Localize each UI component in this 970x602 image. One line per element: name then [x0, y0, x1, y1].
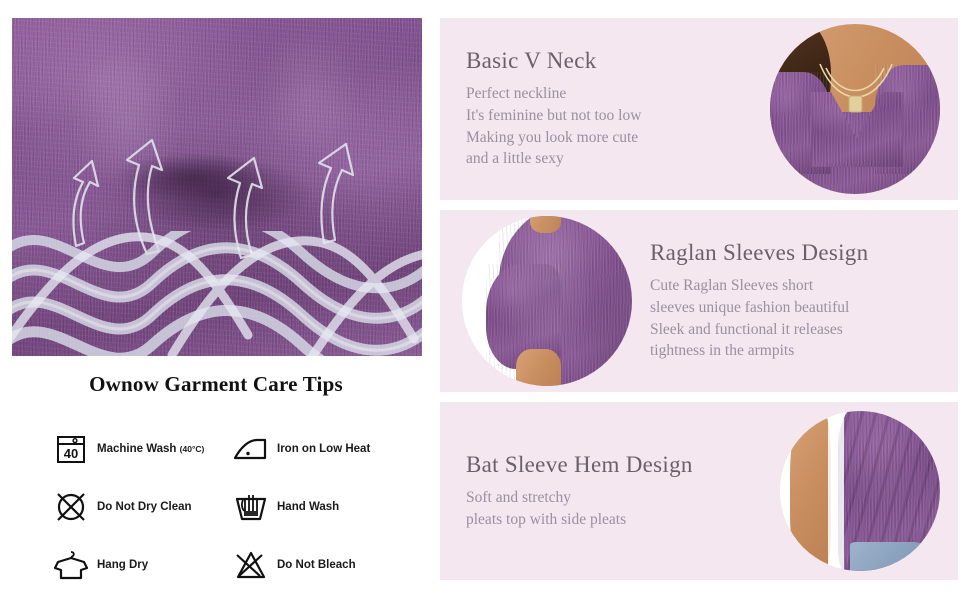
side-pleat-hem-closeup-photo [780, 411, 940, 571]
machine-wash-icon: 40 [50, 431, 92, 467]
iron-low-heat-icon [230, 431, 272, 467]
svg-text:40: 40 [64, 446, 78, 461]
necklace-icon [770, 24, 940, 194]
v-neck-closeup-photo [770, 24, 940, 194]
panel-title: Basic V Neck [466, 48, 770, 74]
feature-panel-raglan: Raglan Sleeves Design Cute Raglan Sleeve… [440, 210, 958, 392]
care-item-do-not-dry-clean: Do Not Dry Clean [50, 489, 230, 525]
care-row: Do Not Dry Clean Hand Wash [50, 486, 410, 528]
care-item-hand-wash: Hand Wash [230, 489, 410, 525]
care-label: Iron on Low Heat [277, 443, 370, 455]
panel-title: Raglan Sleeves Design [650, 240, 952, 266]
care-row: Hang Dry Do Not Bleach [50, 544, 410, 586]
feature-panel-vneck: Basic V Neck Perfect neckline It's femin… [440, 18, 958, 200]
care-item-machine-wash: 40 Machine Wash (40°C) [50, 431, 230, 467]
left-column: Ownow Garment Care Tips 40 Machine Wash … [0, 0, 432, 600]
panel-title: Bat Sleeve Hem Design [466, 452, 780, 478]
care-icon-grid: 40 Machine Wash (40°C) Iron on Low Heat [50, 428, 410, 602]
care-tips-title: Ownow Garment Care Tips [0, 372, 432, 397]
hang-dry-icon [50, 547, 92, 583]
raglan-sleeve-closeup-photo [462, 216, 632, 386]
care-label: Machine Wash (40°C) [97, 443, 204, 455]
care-label: Do Not Dry Clean [97, 501, 192, 513]
fabric-closeup-image [12, 18, 422, 356]
woven-ribbons-overlay [12, 231, 422, 356]
care-label: Hang Dry [97, 559, 148, 571]
do-not-bleach-icon [230, 547, 272, 583]
infographic-page: Ownow Garment Care Tips 40 Machine Wash … [0, 0, 970, 600]
panel-body: Perfect neckline It's feminine but not t… [466, 83, 770, 170]
do-not-dry-clean-icon [50, 489, 92, 525]
care-item-iron-low-heat: Iron on Low Heat [230, 431, 410, 467]
care-row: 40 Machine Wash (40°C) Iron on Low Heat [50, 428, 410, 470]
panel-body: Cute Raglan Sleeves short sleeves unique… [650, 275, 952, 362]
feature-panel-hem: Bat Sleeve Hem Design Soft and stretchy … [440, 402, 958, 580]
care-item-do-not-bleach: Do Not Bleach [230, 547, 410, 583]
care-item-hang-dry: Hang Dry [50, 547, 230, 583]
care-label: Do Not Bleach [277, 559, 356, 571]
right-column: Basic V Neck Perfect neckline It's femin… [440, 18, 958, 580]
care-label: Hand Wash [277, 501, 339, 513]
hand-wash-icon [230, 489, 272, 525]
panel-body: Soft and stretchy pleats top with side p… [466, 487, 780, 530]
